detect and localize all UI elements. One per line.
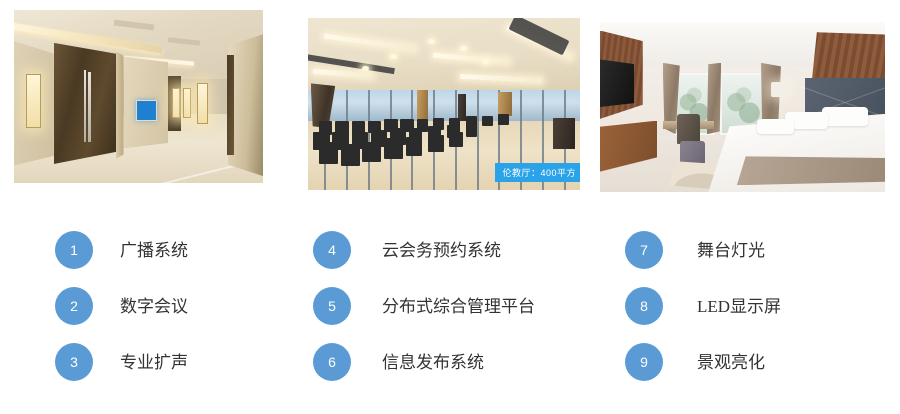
- hall-chair: [400, 119, 414, 131]
- right-dark-column: [227, 55, 234, 155]
- hall-chair: [352, 121, 366, 135]
- feature-item-3[interactable]: 3 专业扩声: [55, 343, 188, 381]
- hall-chair: [466, 116, 477, 126]
- downlight-icon: [460, 46, 467, 51]
- wall-sconce-icon: [26, 74, 40, 128]
- hall-chair: [368, 121, 382, 133]
- feature-number-badge: 3: [55, 343, 93, 381]
- photo-gallery: 伦教厅：400平方: [0, 0, 900, 200]
- feature-number-badge: 4: [313, 231, 351, 269]
- guest-room-scene: [600, 22, 885, 192]
- feature-item-6[interactable]: 6 信息发布系统: [313, 343, 484, 381]
- hall-chair: [335, 121, 349, 135]
- downlight-icon: [428, 39, 435, 44]
- hall-speaker: [553, 118, 575, 149]
- conference-hall-scene: 伦教厅：400平方: [308, 18, 580, 190]
- hall-chair: [319, 121, 333, 135]
- wall-sconce-icon: [197, 83, 208, 125]
- feature-number-badge: 5: [313, 287, 351, 325]
- hotel-lift-lobby-photo: [14, 10, 263, 183]
- wall-sconce-icon: [172, 88, 180, 118]
- feature-label: 专业扩声: [120, 354, 188, 371]
- feature-number-badge: 6: [313, 343, 351, 381]
- hall-column: [498, 92, 512, 116]
- conference-hall-photo: 伦教厅：400平方: [308, 18, 580, 190]
- wall-sconce-icon: [183, 88, 190, 118]
- feature-item-2[interactable]: 2 数字会议: [55, 287, 188, 325]
- feature-item-8[interactable]: 8 LED显示屏: [625, 287, 781, 325]
- bed-pillow: [822, 107, 868, 126]
- feature-label: 信息发布系统: [382, 354, 484, 371]
- hall-chair: [433, 118, 444, 130]
- feature-number-badge: 9: [625, 343, 663, 381]
- feature-label: 分布式综合管理平台: [382, 298, 535, 315]
- feature-number-badge: 2: [55, 287, 93, 325]
- bed-runner: [737, 156, 885, 185]
- elevator-door: [54, 43, 116, 164]
- room-television: [600, 59, 634, 107]
- ottoman-stool: [680, 141, 706, 165]
- feature-number-badge: 7: [625, 231, 663, 269]
- hall-chair: [417, 119, 428, 131]
- feature-label: LED显示屏: [697, 298, 781, 315]
- feature-item-7[interactable]: 7 舞台灯光: [625, 231, 765, 269]
- door-frame: [116, 52, 123, 159]
- feature-item-5[interactable]: 5 分布式综合管理平台: [313, 287, 535, 325]
- feature-label: 舞台灯光: [697, 242, 765, 259]
- hall-area-caption: 伦教厅：400平方: [495, 163, 580, 182]
- feature-number-badge: 1: [55, 231, 93, 269]
- feature-item-4[interactable]: 4 云会务预约系统: [313, 231, 501, 269]
- window-wall: [308, 87, 580, 121]
- hall-chair: [482, 116, 493, 126]
- downlight-icon: [390, 54, 397, 59]
- hall-chair: [449, 118, 460, 128]
- guest-room-photo: [600, 22, 885, 192]
- bed-pillow: [757, 119, 794, 134]
- floor-lamp-icon: [771, 82, 788, 97]
- feature-list: 1 广播系统 2 数字会议 3 专业扩声 4 云会务预约系统 5 分布式综合管理…: [0, 200, 900, 414]
- feature-number-badge: 8: [625, 287, 663, 325]
- feature-label: 数字会议: [120, 298, 188, 315]
- feature-item-9[interactable]: 9 景观亮化: [625, 343, 765, 381]
- feature-label: 云会务预约系统: [382, 242, 501, 259]
- feature-item-1[interactable]: 1 广播系统: [55, 231, 188, 269]
- lift-lobby-scene: [14, 10, 263, 183]
- lobby-display-screen: [136, 100, 157, 121]
- feature-label: 景观亮化: [697, 354, 765, 371]
- feature-label: 广播系统: [120, 242, 188, 259]
- hall-chair: [384, 119, 398, 131]
- desk-chair: [677, 114, 700, 145]
- hall-chair: [498, 114, 509, 124]
